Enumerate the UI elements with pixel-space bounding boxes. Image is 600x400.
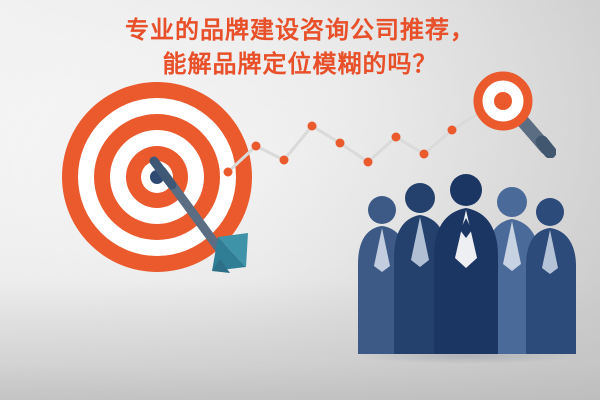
magnifier-center-dot	[494, 92, 512, 110]
chart-point-8	[448, 126, 457, 135]
person-5	[526, 198, 576, 354]
magnifier-handle-end	[542, 142, 550, 152]
business-people-silhouettes	[352, 168, 582, 358]
headline-line-2: 能解品牌定位模糊的吗？	[0, 48, 600, 82]
chart-point-6	[392, 133, 401, 142]
chart-point-4	[336, 139, 345, 148]
poster-canvas: 专业的品牌建设咨询公司推荐， 能解品牌定位模糊的吗？	[0, 0, 600, 400]
dart-arrow-icon	[120, 155, 270, 285]
chart-point-3	[308, 122, 317, 131]
dart-tip	[154, 161, 172, 185]
headline: 专业的品牌建设咨询公司推荐， 能解品牌定位模糊的吗？	[0, 14, 600, 82]
headline-line-1: 专业的品牌建设咨询公司推荐，	[0, 14, 600, 48]
chart-point-2	[280, 156, 289, 165]
chart-point-7	[420, 150, 429, 159]
person-3	[434, 174, 498, 354]
chart-point-1	[252, 142, 261, 151]
chart-point-5	[364, 158, 373, 167]
